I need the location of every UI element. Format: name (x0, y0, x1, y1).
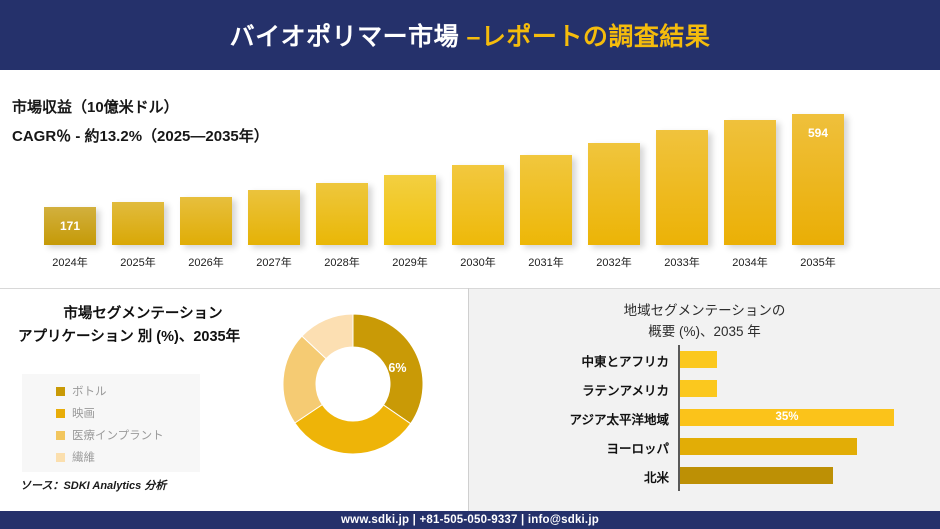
revenue-bar (316, 183, 368, 245)
revenue-bar-category-label: 2030年 (443, 254, 513, 270)
infographic-page: バイオポリマー市場 –レポートの調査結果 市場収益（10億米ドル） CAGR％ … (0, 0, 940, 529)
page-title-accent: –レポートの調査結果 (467, 23, 711, 51)
legend-item-label: 医療インプラント (72, 427, 164, 443)
regional-bar-row: ヨーロッパ (469, 434, 940, 462)
regional-bar-row: ラテンアメリカ (469, 376, 940, 404)
revenue-bar: 171 (44, 207, 96, 245)
regional-panel: 地域セグメンテーションの 概要 (%)、2035 年 中東とアフリカラテンアメリ… (469, 288, 940, 512)
page-title: バイオポリマー市場 –レポートの調査結果 (230, 17, 711, 53)
legend-swatch-icon (56, 453, 65, 462)
revenue-bar-category-label: 2028年 (307, 254, 377, 270)
donut-segment (295, 405, 411, 454)
revenue-bar-category-label: 2027年 (239, 254, 309, 270)
revenue-bar (656, 130, 708, 245)
revenue-bar-category-label: 2035年 (783, 254, 853, 270)
revenue-bar-column (316, 183, 368, 245)
regional-bar-row: 中東とアフリカ (469, 347, 940, 375)
segmentation-panel: 市場セグメンテーション アプリケーション 別 (%)、2035年 ボトル映画医療… (0, 288, 468, 512)
legend-swatch-icon (56, 431, 65, 440)
revenue-bar-column: 594 (792, 114, 844, 245)
revenue-bar-column (248, 190, 300, 245)
revenue-bar-category-label: 2033年 (647, 254, 717, 270)
revenue-bar-column (384, 175, 436, 245)
revenue-bar (724, 120, 776, 245)
segmentation-title-line1: 市場セグメンテーション (18, 303, 268, 326)
segmentation-title-line2: アプリケーション 別 (%)、2035年 (18, 326, 268, 349)
revenue-bar (248, 190, 300, 245)
legend-item-label: 繊維 (72, 449, 95, 465)
regional-title: 地域セグメンテーションの 概要 (%)、2035 年 (469, 301, 940, 343)
revenue-bar (384, 175, 436, 245)
revenue-bar-value-label: 171 (44, 219, 96, 233)
revenue-bar-column (724, 120, 776, 245)
revenue-bar (452, 165, 504, 245)
page-title-primary: バイオポリマー市場 (230, 23, 467, 51)
revenue-bar-column (520, 155, 572, 245)
regional-bar-category-label: ラテンアメリカ (469, 380, 669, 399)
regional-bar-category-label: ヨーロッパ (469, 438, 669, 457)
revenue-bar-column (452, 165, 504, 245)
regional-bar (680, 351, 717, 368)
revenue-bar-category-label: 2031年 (511, 254, 581, 270)
regional-bar-row: アジア太平洋地域35% (469, 405, 940, 433)
revenue-bar-category-label: 2032年 (579, 254, 649, 270)
legend-swatch-icon (56, 387, 65, 396)
legend-item: ボトル (22, 380, 200, 402)
legend-item-label: ボトル (72, 383, 107, 399)
revenue-bar-category-label: 2026年 (171, 254, 241, 270)
legend-item: 映画 (22, 402, 200, 424)
regional-bar (680, 467, 833, 484)
legend-item: 医療インプラント (22, 424, 200, 446)
revenue-bar-category-label: 2024年 (35, 254, 105, 270)
revenue-bar (112, 202, 164, 245)
source-note: ソース：SDKI Analytics 分析 (20, 477, 166, 493)
regional-bar-value-label: 35% (680, 411, 894, 423)
donut-share-label: 34.6% (371, 361, 406, 375)
revenue-bars-plot: 1712024年2025年2026年2027年2028年2029年2030年20… (0, 70, 940, 286)
revenue-bar-category-label: 2034年 (715, 254, 785, 270)
revenue-bar-column (588, 143, 640, 245)
revenue-bar: 594 (792, 114, 844, 245)
regional-bar-row: 北米 (469, 463, 940, 491)
footer-banner: www.sdki.jp | +81-505-050-9337 | info@sd… (0, 511, 940, 529)
revenue-bar (180, 197, 232, 245)
regional-bar-category-label: 北米 (469, 467, 669, 486)
footer-contact-text: www.sdki.jp | +81-505-050-9337 | info@sd… (341, 514, 599, 526)
legend-swatch-icon (56, 409, 65, 418)
revenue-bar-column (180, 197, 232, 245)
revenue-bar (520, 155, 572, 245)
regional-title-line2: 概要 (%)、2035 年 (469, 322, 940, 343)
revenue-chart-section: 市場収益（10億米ドル） CAGR％ - 約13.2%（2025―2035年） … (0, 70, 940, 286)
regional-bar-category-label: アジア太平洋地域 (469, 409, 669, 428)
regional-bar-category-label: 中東とアフリカ (469, 351, 669, 370)
regional-title-line1: 地域セグメンテーションの (469, 301, 940, 322)
revenue-bar (588, 143, 640, 245)
donut-svg (282, 313, 424, 455)
revenue-bar-category-label: 2029年 (375, 254, 445, 270)
revenue-bar-column: 171 (44, 207, 96, 245)
regional-bars-plot: 中東とアフリカラテンアメリカアジア太平洋地域35%ヨーロッパ北米 (469, 345, 940, 495)
regional-bar: 35% (680, 409, 894, 426)
revenue-bar-column (656, 130, 708, 245)
segmentation-title: 市場セグメンテーション アプリケーション 別 (%)、2035年 (18, 303, 268, 349)
legend-item-label: 映画 (72, 405, 95, 421)
segmentation-donut-chart (282, 313, 424, 455)
regional-bar (680, 438, 857, 455)
revenue-bar-value-label: 594 (792, 126, 844, 140)
legend-item: 繊維 (22, 446, 200, 468)
header-banner: バイオポリマー市場 –レポートの調査結果 (0, 0, 940, 70)
revenue-bar-category-label: 2025年 (103, 254, 173, 270)
regional-bar (680, 380, 717, 397)
segmentation-legend: ボトル映画医療インプラント繊維 (22, 374, 200, 472)
revenue-bar-column (112, 202, 164, 245)
